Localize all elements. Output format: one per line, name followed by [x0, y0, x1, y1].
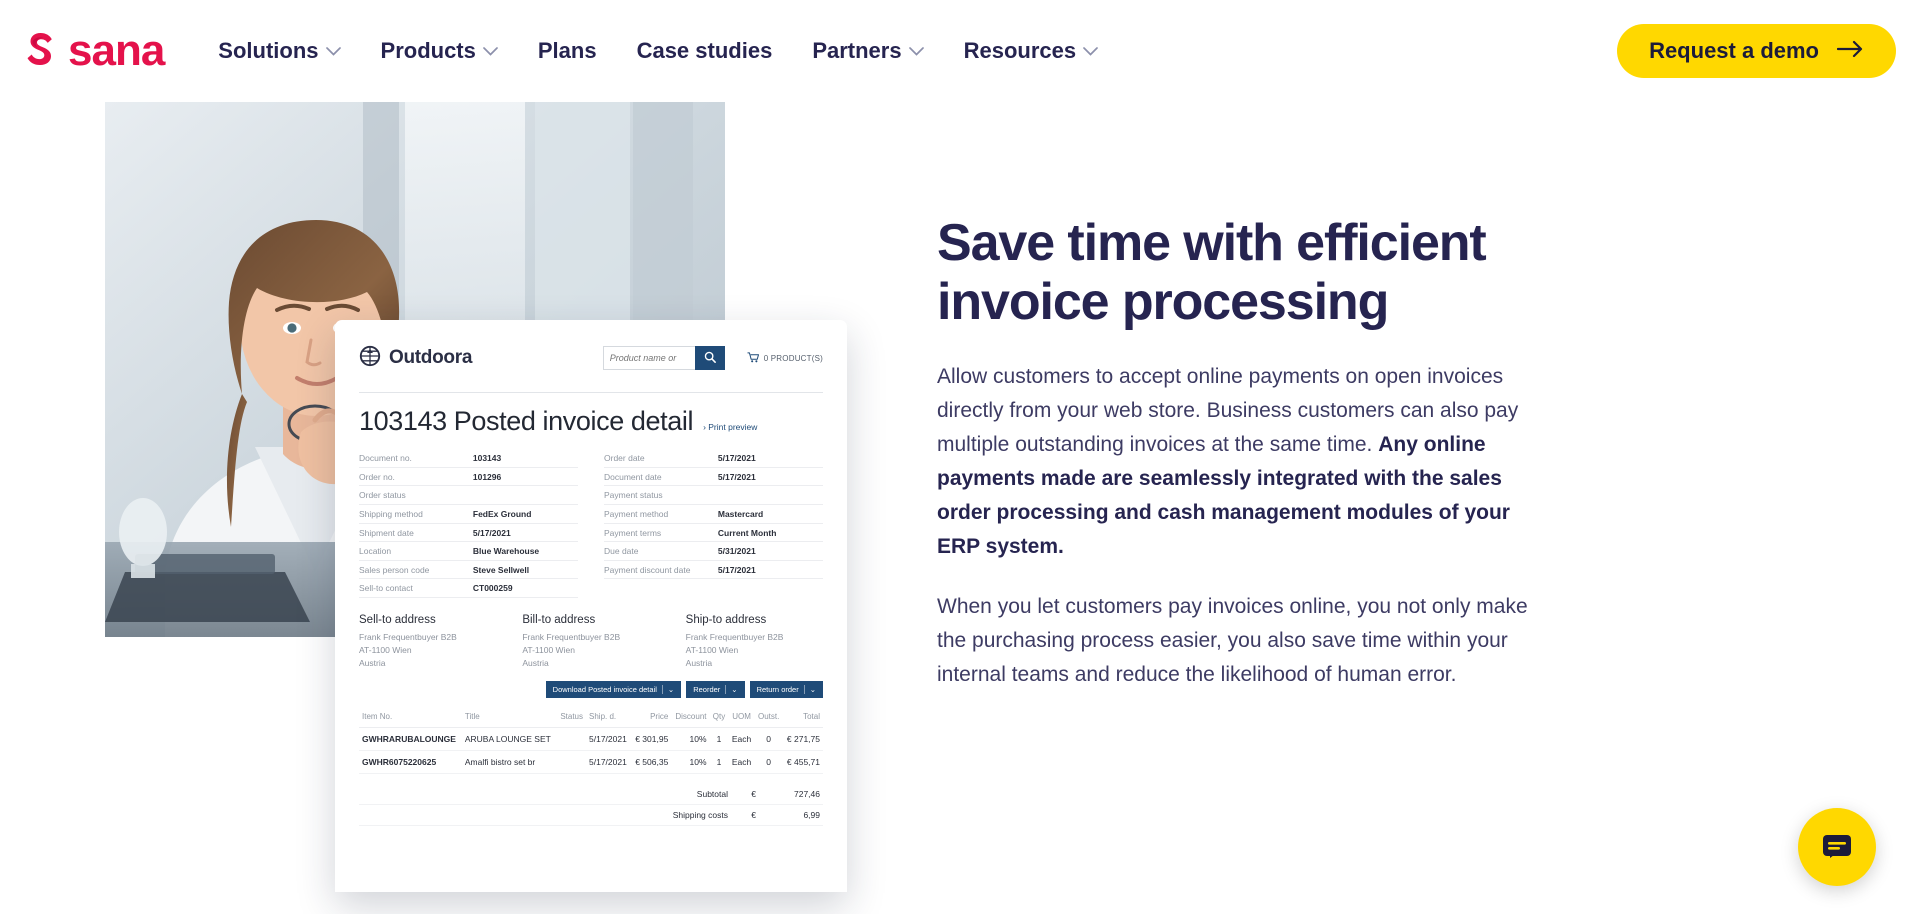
- field-value: Steve Sellwell: [473, 565, 578, 576]
- main-navigation: Solutions Products Plans Case studies Pa…: [198, 28, 1118, 74]
- page-title: Save time with efficient invoice process…: [937, 214, 1537, 332]
- col-status: Status: [556, 712, 586, 728]
- hero-visual: Outdoora: [105, 102, 845, 892]
- paragraph-two: When you let customers pay invoices onli…: [937, 590, 1537, 692]
- chevron-down-icon: [909, 47, 924, 56]
- address-line: Austria: [359, 657, 496, 670]
- col-item-no: Item No.: [359, 712, 462, 728]
- arrow-right-icon: [1837, 40, 1864, 62]
- field-label: Payment terms: [604, 528, 718, 539]
- request-demo-button[interactable]: Request a demo: [1617, 24, 1896, 78]
- sana-logo-icon: [20, 31, 60, 71]
- invoice-fields-left: Document no.103143 Order no.101296 Order…: [359, 449, 578, 598]
- cell-total: € 455,71: [783, 750, 823, 773]
- address-title: Sell-to address: [359, 614, 496, 626]
- cell-ship-date: 5/17/2021: [586, 750, 631, 773]
- search-icon: [704, 351, 716, 366]
- field-value: 5/17/2021: [718, 453, 823, 464]
- field-label: Payment method: [604, 509, 718, 520]
- field-value: FedEx Ground: [473, 509, 578, 520]
- download-invoice-label: Download Posted invoice detail: [553, 685, 657, 694]
- page-content: Outdoora: [0, 102, 1920, 892]
- field-value: 5/17/2021: [473, 528, 578, 539]
- cart-label: 0 PRODUCT(S): [764, 354, 823, 363]
- field-label: Sales person code: [359, 565, 473, 576]
- col-total: Total: [783, 712, 823, 728]
- field-label: Location: [359, 546, 473, 557]
- cell-total: € 271,75: [783, 727, 823, 750]
- hero-copy: Save time with efficient invoice process…: [937, 102, 1537, 718]
- invoice-fields-right: Order date5/17/2021 Document date5/17/20…: [604, 449, 823, 598]
- invoice-title-row: 103143 Posted invoice detail › Print pre…: [359, 393, 823, 447]
- bill-to-address: Bill-to address Frank Frequentbuyer B2B …: [522, 614, 659, 671]
- address-line: Frank Frequentbuyer B2B: [359, 631, 496, 644]
- nav-label: Plans: [538, 38, 597, 64]
- nav-item-solutions[interactable]: Solutions: [198, 28, 360, 74]
- site-header: sana Solutions Products Plans Case studi…: [0, 0, 1920, 102]
- total-currency: €: [728, 810, 756, 820]
- field-value: Current Month: [718, 528, 823, 539]
- total-label: Subtotal: [608, 789, 728, 799]
- field-row: Sell-to contactCT000259: [359, 579, 578, 598]
- chevron-down-icon: ⌄: [662, 685, 674, 694]
- print-preview-link[interactable]: › Print preview: [703, 422, 757, 432]
- invoice-title: 103143 Posted invoice detail: [359, 406, 693, 437]
- total-row-shipping: Shipping costs € 6,99: [359, 805, 823, 826]
- field-row: Due date5/31/2021: [604, 542, 823, 561]
- cell-qty: 1: [710, 727, 729, 750]
- ship-to-address: Ship-to address Frank Frequentbuyer B2B …: [686, 614, 823, 671]
- address-title: Bill-to address: [522, 614, 659, 626]
- field-row: Shipment date5/17/2021: [359, 524, 578, 543]
- field-row: Document date5/17/2021: [604, 468, 823, 487]
- field-value: CT000259: [473, 583, 578, 594]
- nav-label: Solutions: [218, 38, 318, 64]
- nav-label: Case studies: [637, 38, 773, 64]
- field-row: Payment status: [604, 486, 823, 505]
- col-discount: Discount: [671, 712, 709, 728]
- field-value: 5/31/2021: [718, 546, 823, 557]
- field-label: Document date: [604, 472, 718, 483]
- invoice-totals: Subtotal € 727,46 Shipping costs € 6,99: [359, 784, 823, 826]
- cell-title: Amalfi bistro set br: [462, 750, 557, 773]
- cell-item-no: GWHR6075220625: [359, 750, 462, 773]
- download-invoice-button[interactable]: Download Posted invoice detail ⌄: [546, 681, 682, 698]
- address-line: Frank Frequentbuyer B2B: [686, 631, 823, 644]
- field-row: Document no.103143: [359, 449, 578, 468]
- request-demo-label: Request a demo: [1649, 40, 1819, 62]
- field-label: Shipping method: [359, 509, 473, 520]
- total-currency: €: [728, 789, 756, 799]
- field-row: Payment discount date5/17/2021: [604, 561, 823, 580]
- cell-uom: Each: [728, 727, 754, 750]
- chat-launcher-button[interactable]: [1798, 808, 1876, 886]
- invoice-line-items-table: Item No. Title Status Ship. d. Price Dis…: [359, 712, 823, 774]
- address-title: Ship-to address: [686, 614, 823, 626]
- field-row: Payment termsCurrent Month: [604, 524, 823, 543]
- field-label: Payment status: [604, 490, 718, 501]
- cell-status: [556, 727, 586, 750]
- field-row: Order date5/17/2021: [604, 449, 823, 468]
- col-title: Title: [462, 712, 557, 728]
- field-row: Order no.101296: [359, 468, 578, 487]
- cell-price: € 301,95: [631, 727, 671, 750]
- cell-item-no: GWHRARUBALOUNGE: [359, 727, 462, 750]
- col-ship-date: Ship. d.: [586, 712, 631, 728]
- address-line: Frank Frequentbuyer B2B: [522, 631, 659, 644]
- total-value: 6,99: [756, 810, 820, 820]
- return-order-label: Return order: [757, 685, 799, 694]
- table-header-row: Item No. Title Status Ship. d. Price Dis…: [359, 712, 823, 728]
- cell-ship-date: 5/17/2021: [586, 727, 631, 750]
- globe-icon: [359, 345, 381, 372]
- cart-indicator[interactable]: 0 PRODUCT(S): [747, 352, 823, 365]
- field-label: Order status: [359, 490, 473, 501]
- col-outst: Outst.: [755, 712, 783, 728]
- table-row[interactable]: GWHRARUBALOUNGE ARUBA LOUNGE SET 5/17/20…: [359, 727, 823, 750]
- col-price: Price: [631, 712, 671, 728]
- reorder-button[interactable]: Reorder ⌄: [686, 681, 744, 698]
- product-search: [603, 346, 725, 370]
- field-label: Due date: [604, 546, 718, 557]
- field-label: Sell-to contact: [359, 583, 473, 594]
- address-line: AT-1100 Wien: [686, 644, 823, 657]
- cell-discount: 10%: [671, 727, 709, 750]
- field-label: Order no.: [359, 472, 473, 483]
- nav-item-products[interactable]: Products: [361, 28, 518, 74]
- chevron-down-icon: ⌄: [725, 685, 737, 694]
- cell-title: ARUBA LOUNGE SET: [462, 727, 557, 750]
- col-uom: UOM: [728, 712, 754, 728]
- total-value: 727,46: [756, 789, 820, 799]
- total-row-subtotal: Subtotal € 727,46: [359, 784, 823, 805]
- address-line: Austria: [522, 657, 659, 670]
- cell-status: [556, 750, 586, 773]
- return-order-button[interactable]: Return order ⌄: [750, 681, 823, 698]
- print-preview-label: Print preview: [708, 422, 757, 432]
- field-row: Order status: [359, 486, 578, 505]
- chevron-down-icon: [326, 47, 341, 56]
- nav-item-partners[interactable]: Partners: [792, 28, 943, 74]
- field-value: 101296: [473, 472, 578, 483]
- nav-label: Products: [381, 38, 476, 64]
- invoice-topbar: Outdoora: [359, 338, 823, 378]
- address-line: AT-1100 Wien: [359, 644, 496, 657]
- nav-label: Resources: [964, 38, 1077, 64]
- invoice-actions: Download Posted invoice detail ⌄ Reorder…: [359, 681, 823, 698]
- nav-item-plans[interactable]: Plans: [518, 28, 617, 74]
- nav-item-resources[interactable]: Resources: [944, 28, 1119, 74]
- field-row: Shipping methodFedEx Ground: [359, 505, 578, 524]
- nav-item-case-studies[interactable]: Case studies: [617, 28, 793, 74]
- sell-to-address: Sell-to address Frank Frequentbuyer B2B …: [359, 614, 496, 671]
- nav-label: Partners: [812, 38, 901, 64]
- chat-icon: [1819, 828, 1855, 867]
- field-row: Payment methodMastercard: [604, 505, 823, 524]
- outdoora-brand[interactable]: Outdoora: [359, 345, 472, 372]
- paragraph-one: Allow customers to accept online payment…: [937, 360, 1537, 564]
- invoice-addresses: Sell-to address Frank Frequentbuyer B2B …: [359, 614, 823, 671]
- field-label: Order date: [604, 453, 718, 464]
- field-value: [718, 490, 823, 501]
- cell-qty: 1: [710, 750, 729, 773]
- chevron-down-icon: [483, 47, 498, 56]
- header-cta-container: Request a demo: [1617, 24, 1896, 78]
- invoice-fields: Document no.103143 Order no.101296 Order…: [359, 447, 823, 598]
- cell-uom: Each: [728, 750, 754, 773]
- address-line: Austria: [686, 657, 823, 670]
- field-label: Shipment date: [359, 528, 473, 539]
- reorder-label: Reorder: [693, 685, 720, 694]
- field-value: 103143: [473, 453, 578, 464]
- search-button[interactable]: [695, 346, 725, 370]
- field-value: Blue Warehouse: [473, 546, 578, 557]
- chevron-down-icon: ⌄: [804, 685, 816, 694]
- sana-logo[interactable]: sana: [20, 29, 164, 73]
- product-search-input[interactable]: [603, 346, 695, 370]
- outdoora-brand-name: Outdoora: [389, 347, 472, 369]
- field-label: Document no.: [359, 453, 473, 464]
- field-value: Mastercard: [718, 509, 823, 520]
- cell-discount: 10%: [671, 750, 709, 773]
- field-value: [473, 490, 578, 501]
- chevron-down-icon: [1083, 47, 1098, 56]
- cart-icon: [747, 352, 759, 365]
- field-row: LocationBlue Warehouse: [359, 542, 578, 561]
- cell-outst: 0: [755, 727, 783, 750]
- total-label: Shipping costs: [608, 810, 728, 820]
- cell-price: € 506,35: [631, 750, 671, 773]
- field-value: 5/17/2021: [718, 472, 823, 483]
- col-qty: Qty: [710, 712, 729, 728]
- sana-logo-text: sana: [68, 29, 164, 73]
- field-row: Sales person codeSteve Sellwell: [359, 561, 578, 580]
- address-line: AT-1100 Wien: [522, 644, 659, 657]
- table-row[interactable]: GWHR6075220625 Amalfi bistro set br 5/17…: [359, 750, 823, 773]
- field-value: 5/17/2021: [718, 565, 823, 576]
- invoice-mockup-card: Outdoora: [335, 320, 847, 892]
- field-label: Payment discount date: [604, 565, 718, 576]
- cell-outst: 0: [755, 750, 783, 773]
